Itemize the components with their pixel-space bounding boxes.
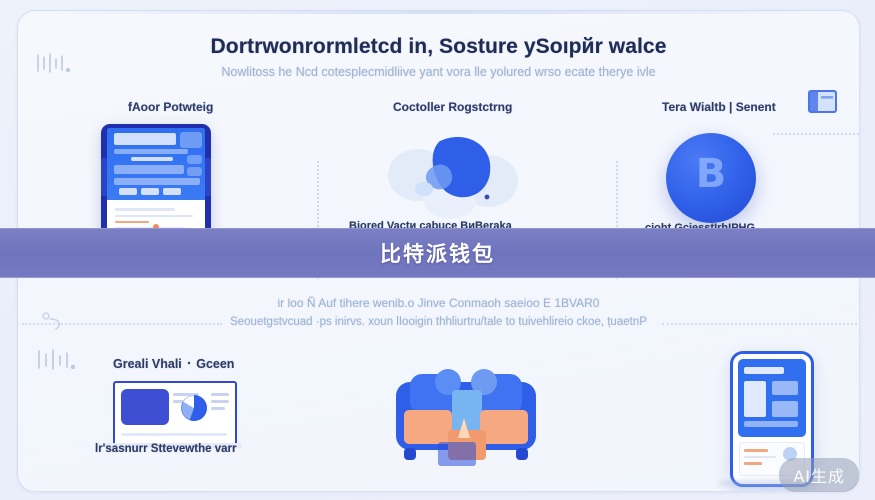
- center-banner: 比特派钱包: [0, 228, 875, 278]
- page-title: Dortrwonrormletcd in, Sosture ySoıpйr wa…: [18, 35, 859, 59]
- screen-header-area: [107, 128, 205, 200]
- bottom-column-heading-1: Greali Vhali ᛫ Gceen: [113, 357, 234, 371]
- illustration-abstract-blob: [384, 123, 524, 223]
- bottom-line-1: ir loo Ñ Auf tihere wenib.o Jinve Conmao…: [18, 296, 859, 310]
- app-header-area: [738, 359, 806, 437]
- ai-generated-watermark: AI生成: [779, 458, 859, 492]
- illustration-people-on-sofa: [392, 360, 540, 472]
- bottom-dotted-rule-right: [662, 323, 857, 325]
- sketch-squiggle-icon: [34, 51, 74, 82]
- infographic-root: Dortrwonrormletcd in, Sosture ySoıpйr wa…: [0, 0, 875, 500]
- sketch-curve-icon: [40, 307, 74, 338]
- dashboard-panel: [121, 389, 169, 425]
- sketch-bars-icon: [34, 347, 78, 378]
- donut-chart: [181, 395, 207, 421]
- top-column-heading-2: Coctoller Rogstctrng: [393, 100, 512, 114]
- page-subtitle: Nowlitoss he Ncd cotesplecmidliive yant …: [18, 65, 859, 79]
- illustration-bitcoin-coin: B: [666, 133, 756, 223]
- illustration-laptop-dashboard: [113, 381, 237, 447]
- banner-title: 比特派钱包: [380, 238, 495, 268]
- window-frame-icon: [808, 89, 838, 120]
- device-side-right: [205, 158, 211, 196]
- top-column-heading-1: fAoor Potwteig: [128, 100, 213, 114]
- top-right-dotted-rule: [773, 133, 859, 135]
- bottom-line-2: Seouetgstvcuad ·ps inirvs. xoun lIooigin…: [18, 316, 859, 328]
- coin-b-glyph: B: [666, 151, 756, 197]
- top-column-heading-3: Tera Wialtb | Senent: [662, 100, 776, 114]
- bottom-column-caption-1: lr'sasnurr Sttevewthe varr: [95, 443, 236, 455]
